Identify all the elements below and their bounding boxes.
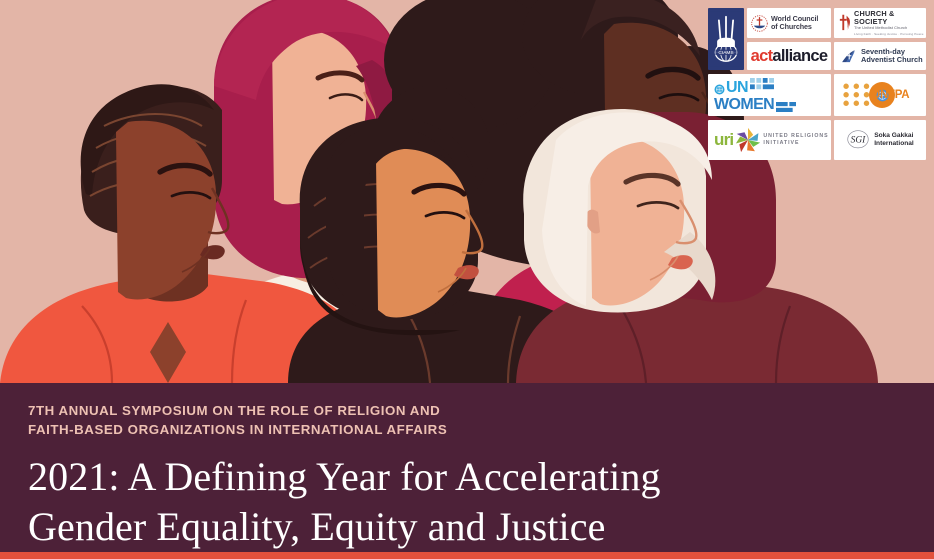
act-word: act bbox=[751, 47, 773, 65]
navy-organization-badge-logo: CIAMS bbox=[708, 8, 744, 70]
sgi-monogram-icon: SGI bbox=[846, 129, 870, 151]
headline-line-2: Gender Equality, Equity and Justice bbox=[28, 502, 906, 552]
partner-logos: CIAMS World Council of Churches bbox=[708, 8, 926, 163]
cs-line2: The United Methodist Church bbox=[854, 26, 924, 30]
un-word: UN bbox=[726, 80, 748, 95]
soka-gakkai-international-logo: SGI Soka Gakkai International bbox=[834, 120, 926, 160]
symposium-poster: CIAMS World Council of Churches bbox=[0, 0, 934, 559]
uri-line2: INITIATIVE bbox=[763, 140, 799, 146]
adventist-flame-cross-icon bbox=[840, 48, 857, 65]
un-women-logo: UN WOMEN bbox=[708, 74, 831, 116]
wcc-line2: of Churches bbox=[771, 22, 812, 31]
methodist-cross-flame-icon bbox=[839, 13, 851, 33]
sgi-line2: International bbox=[874, 140, 914, 147]
headline-line-1: 2021: A Defining Year for Accelerating bbox=[28, 452, 906, 502]
title-band: 7TH ANNUAL SYMPOSIUM ON THE ROLE OF RELI… bbox=[0, 383, 934, 559]
eyebrow-line-1: 7TH ANNUAL SYMPOSIUM ON THE ROLE OF RELI… bbox=[28, 402, 906, 421]
seventh-day-adventist-church-logo: Seventh-day Adventist Church bbox=[834, 42, 926, 70]
svg-text:SGI: SGI bbox=[851, 136, 866, 146]
world-council-of-churches-logo: World Council of Churches bbox=[747, 8, 831, 38]
uri-pinwheel-star-icon bbox=[735, 127, 761, 153]
sda-line2: Adventist Church bbox=[861, 55, 923, 64]
un-emblem-icon bbox=[714, 82, 725, 93]
symposium-eyebrow: 7TH ANNUAL SYMPOSIUM ON THE ROLE OF RELI… bbox=[28, 402, 906, 440]
un-women-bars-icon bbox=[750, 78, 774, 98]
unfpa-logo: UNFPA bbox=[834, 74, 926, 116]
bottom-accent-rule bbox=[0, 552, 934, 559]
unfpa-wordmark: UNFPA bbox=[872, 89, 909, 101]
church-and-society-logo: CHURCH & SOCIETY The United Methodist Ch… bbox=[834, 8, 926, 38]
wcc-cross-boat-icon bbox=[751, 15, 768, 32]
cs-line1: CHURCH & SOCIETY bbox=[854, 10, 924, 25]
uri-wordmark: uri bbox=[714, 130, 733, 150]
un-women-bars-icon-2 bbox=[776, 99, 796, 111]
united-religions-initiative-logo: uri UNITED RELIGIONS INITIATIVE bbox=[708, 120, 831, 160]
eyebrow-line-2: FAITH-BASED ORGANIZATIONS IN INTERNATION… bbox=[28, 421, 906, 440]
page-title: 2021: A Defining Year for Accelerating G… bbox=[28, 452, 906, 553]
act-alliance-logo: actalliance bbox=[747, 42, 831, 70]
uri-line1: UNITED RELIGIONS bbox=[763, 133, 828, 139]
sgi-line1: Soka Gakkai bbox=[874, 132, 913, 139]
cs-line3: Living Faith · Seeking Justice · Pursuin… bbox=[854, 33, 924, 36]
svg-text:CIAMS: CIAMS bbox=[718, 50, 733, 56]
women-word: WOMEN bbox=[714, 97, 774, 112]
alliance-word: alliance bbox=[772, 47, 827, 65]
